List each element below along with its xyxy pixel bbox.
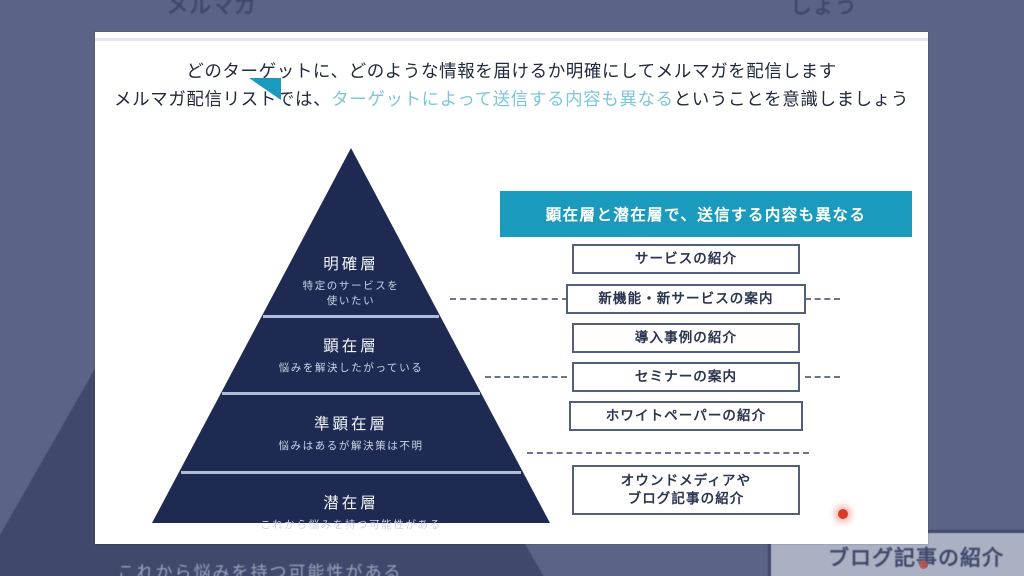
connector-dash-right-2: [805, 376, 840, 378]
content-box-5-label: ホワイトペーパーの紹介: [606, 407, 766, 425]
background-header-line2-pre: メルマガ: [167, 0, 257, 18]
connector-dash-left-2: [485, 376, 567, 378]
content-box-2-label: 新機能・新サービスの案内: [598, 290, 773, 308]
content-box-6[interactable]: オウンドメディアや ブログ記事の紹介: [572, 465, 800, 515]
foreground-slide: どのターゲットに、どのような情報を届けるか明確にしてメルマガを配信します メルマ…: [95, 32, 928, 544]
connector-dash-right-1: [805, 298, 840, 300]
content-box-5[interactable]: ホワイトペーパーの紹介: [569, 401, 803, 431]
pyramid-layer-2-subtitle: 悩みを解決したがっている: [152, 361, 550, 376]
screenshot-canvas: どのターゲットに、どのような情報を届けるか明確にしてメルマガを配信します メルマ…: [0, 0, 1024, 576]
content-box-2[interactable]: 新機能・新サービスの案内: [566, 284, 806, 314]
pyramid-layer-2: 顕在層 悩みを解決したがっている: [152, 334, 550, 376]
slide-header-line1: どのターゲットに、どのような情報を届けるか明確にしてメルマガを配信します: [95, 58, 928, 83]
connector-dash-3: [527, 452, 809, 454]
pyramid-layer-4-subtitle: これから悩みを持つ可能性がある: [152, 518, 550, 533]
content-box-3[interactable]: 導入事例の紹介: [572, 323, 800, 353]
pyramid-layer-3-subtitle: 悩みはあるが解決策は不明: [152, 439, 550, 454]
background-cursor-dot: [919, 560, 928, 569]
slide-top-divider: [95, 38, 928, 41]
content-box-3-label: 導入事例の紹介: [635, 329, 737, 347]
pyramid-divider-2: [222, 392, 480, 395]
pyramid-layer-4: 潜在層 これから悩みを持つ可能性がある: [152, 491, 550, 533]
pyramid-layer-1-title: 明確層: [152, 252, 550, 274]
pyramid-layer-1: 明確層 特定のサービスを 使いたい: [152, 252, 550, 309]
background-pyramid-bottom-label: これから悩みを持つ可能性がある: [0, 558, 580, 576]
audience-pyramid: 明確層 特定のサービスを 使いたい 顕在層 悩みを解決したがっている 準顕在層 …: [152, 148, 550, 523]
pyramid-layer-2-title: 顕在層: [152, 334, 550, 356]
content-box-1[interactable]: サービスの紹介: [572, 244, 800, 274]
pyramid-divider-1: [263, 315, 439, 318]
cursor-dot: [838, 509, 848, 519]
connector-dash-left-1: [450, 298, 568, 300]
pyramid-layer-3: 準顕在層 悩みはあるが解決策は不明: [152, 412, 550, 454]
slide-header-line2-highlight: ターゲットによって送信する内容も異なる: [331, 89, 674, 109]
content-box-1-label: サービスの紹介: [635, 250, 737, 268]
pyramid-layer-1-subtitle: 特定のサービスを 使いたい: [152, 279, 550, 309]
callout-banner: 顕在層と潜在層で、送信する内容も異なる: [500, 191, 912, 237]
slide-header-line2-post: ということを意識しましょう: [674, 89, 909, 109]
content-box-4-label: セミナーの案内: [635, 368, 737, 386]
content-box-6-label: オウンドメディアや ブログ記事の紹介: [621, 472, 751, 508]
pyramid-layer-3-title: 準顕在層: [152, 412, 550, 434]
slide-header-line2-pre: メルマガ配信リストでは、: [114, 89, 331, 109]
callout-text: 顕在層と潜在層で、送信する内容も異なる: [500, 191, 912, 237]
background-header-line2: メルマガ しょう: [0, 0, 1024, 20]
content-box-4[interactable]: セミナーの案内: [572, 362, 800, 392]
background-header-line2-post: しょう: [790, 0, 858, 18]
slide-header-line2: メルマガ配信リストでは、ターゲットによって送信する内容も異なるということを意識し…: [95, 86, 928, 111]
pyramid-divider-3: [181, 471, 521, 474]
pyramid-layer-4-title: 潜在層: [152, 491, 550, 513]
